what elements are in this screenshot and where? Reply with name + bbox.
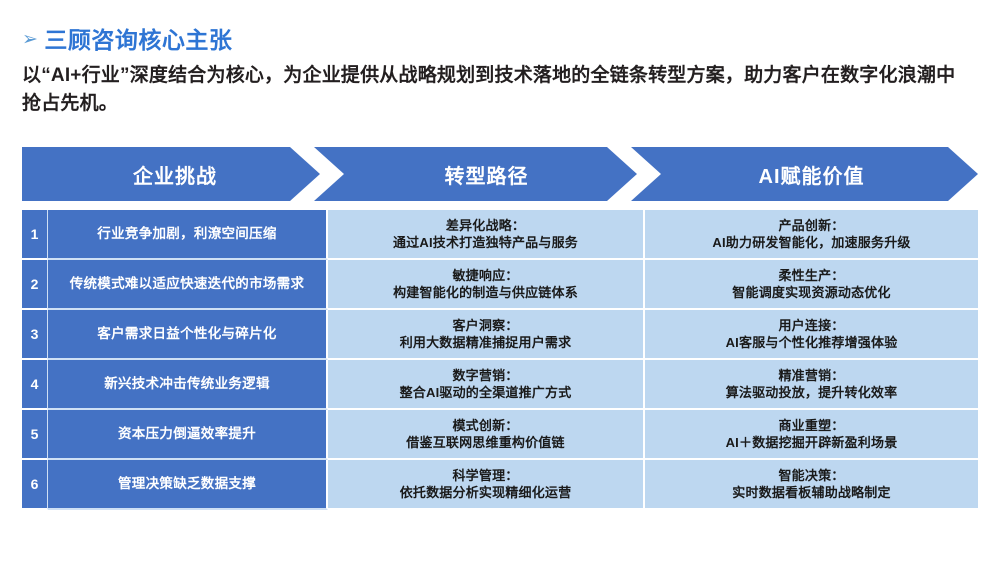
table-row: 1 行业竞争加剧，利潦空间压缩 差异化战略： 通过AI技术打造独特产品与服务 产… [22, 210, 978, 260]
row-path: 差异化战略： 通过AI技术打造独特产品与服务 [328, 210, 645, 260]
row-path-desc: 借鉴互联网思维重构价值链 [332, 434, 639, 451]
row-path-title: 数字营销： [332, 367, 639, 384]
row-value-title: 柔性生产： [649, 267, 974, 284]
row-challenge: 新兴技术冲击传统业务逻辑 [48, 360, 328, 410]
row-value-title: 精准营销： [649, 367, 974, 384]
row-path-desc: 依托数据分析实现精细化运营 [332, 484, 639, 501]
header-col-value-label: AI赋能价值 [759, 160, 865, 189]
header-col-path-label: 转型路径 [445, 160, 529, 189]
row-value-desc: AI客服与个性化推荐增强体验 [649, 334, 974, 351]
row-challenge: 管理决策缺乏数据支撑 [48, 460, 328, 510]
row-path-desc: 构建智能化的制造与供应链体系 [332, 284, 639, 301]
column-header-banner: 企业挑战 转型路径 AI赋能价值 [22, 147, 978, 201]
row-number: 3 [22, 310, 48, 360]
row-path-desc: 利用大数据精准捕捉用户需求 [332, 334, 639, 351]
row-path-title: 科学管理： [332, 467, 639, 484]
row-path-desc: 通过AI技术打造独特产品与服务 [332, 234, 639, 251]
row-value-desc: 算法驱动投放，提升转化效率 [649, 384, 974, 401]
row-challenge: 行业竞争加剧，利潦空间压缩 [48, 210, 328, 260]
row-value: 商业重塑： AI＋数据挖掘开辟新盈利场景 [645, 410, 978, 460]
row-value-desc: 实时数据看板辅助战略制定 [649, 484, 974, 501]
page-title: ➢ 三顾咨询核心主张 [22, 28, 978, 53]
row-value: 精准营销： 算法驱动投放，提升转化效率 [645, 360, 978, 410]
transformation-matrix-table: 1 行业竞争加剧，利潦空间压缩 差异化战略： 通过AI技术打造独特产品与服务 产… [22, 210, 978, 510]
row-number: 2 [22, 260, 48, 310]
row-value-title: 智能决策： [649, 467, 974, 484]
row-path: 科学管理： 依托数据分析实现精细化运营 [328, 460, 645, 510]
row-number: 5 [22, 410, 48, 460]
header-col-value: AI赋能价值 [645, 147, 978, 201]
row-value-title: 用户连接： [649, 317, 974, 334]
table-row: 6 管理决策缺乏数据支撑 科学管理： 依托数据分析实现精细化运营 智能决策： 实… [22, 460, 978, 510]
row-value-desc: AI＋数据挖掘开辟新盈利场景 [649, 434, 974, 451]
row-value: 用户连接： AI客服与个性化推荐增强体验 [645, 310, 978, 360]
row-value-desc: 智能调度实现资源动态优化 [649, 284, 974, 301]
row-path: 敏捷响应： 构建智能化的制造与供应链体系 [328, 260, 645, 310]
header-col-challenge: 企业挑战 [22, 147, 328, 201]
row-number: 6 [22, 460, 48, 510]
header-col-challenge-label: 企业挑战 [133, 160, 217, 189]
row-challenge: 客户需求日益个性化与碎片化 [48, 310, 328, 360]
row-value: 产品创新： AI助力研发智能化，加速服务升级 [645, 210, 978, 260]
header-col-path: 转型路径 [328, 147, 645, 201]
bullet-arrow-icon: ➢ [22, 30, 38, 49]
table-row: 3 客户需求日益个性化与碎片化 客户洞察： 利用大数据精准捕捉用户需求 用户连接… [22, 310, 978, 360]
row-path: 模式创新： 借鉴互联网思维重构价值链 [328, 410, 645, 460]
row-path-title: 客户洞察： [332, 317, 639, 334]
row-path: 客户洞察： 利用大数据精准捕捉用户需求 [328, 310, 645, 360]
row-value-title: 商业重塑： [649, 417, 974, 434]
row-value: 智能决策： 实时数据看板辅助战略制定 [645, 460, 978, 510]
row-challenge: 资本压力倒逼效率提升 [48, 410, 328, 460]
row-path-title: 敏捷响应： [332, 267, 639, 284]
row-challenge: 传统模式难以适应快速迭代的市场需求 [48, 260, 328, 310]
row-number: 1 [22, 210, 48, 260]
table-row: 5 资本压力倒逼效率提升 模式创新： 借鉴互联网思维重构价值链 商业重塑： AI… [22, 410, 978, 460]
page-title-text: 三顾咨询核心主张 [44, 28, 232, 53]
row-value: 柔性生产： 智能调度实现资源动态优化 [645, 260, 978, 310]
page-subtitle: 以“AI+行业”深度结合为核心，为企业提供从战略规划到技术落地的全链条转型方案，… [22, 62, 972, 118]
row-number: 4 [22, 360, 48, 410]
slide-heading: ➢ 三顾咨询核心主张 以“AI+行业”深度结合为核心，为企业提供从战略规划到技术… [22, 28, 978, 119]
table-row: 2 传统模式难以适应快速迭代的市场需求 敏捷响应： 构建智能化的制造与供应链体系… [22, 260, 978, 310]
row-path: 数字营销： 整合AI驱动的全渠道推广方式 [328, 360, 645, 410]
row-path-title: 模式创新： [332, 417, 639, 434]
table-row: 4 新兴技术冲击传统业务逻辑 数字营销： 整合AI驱动的全渠道推广方式 精准营销… [22, 360, 978, 410]
row-path-title: 差异化战略： [332, 217, 639, 234]
row-value-desc: AI助力研发智能化，加速服务升级 [649, 234, 974, 251]
row-value-title: 产品创新： [649, 217, 974, 234]
row-path-desc: 整合AI驱动的全渠道推广方式 [332, 384, 639, 401]
